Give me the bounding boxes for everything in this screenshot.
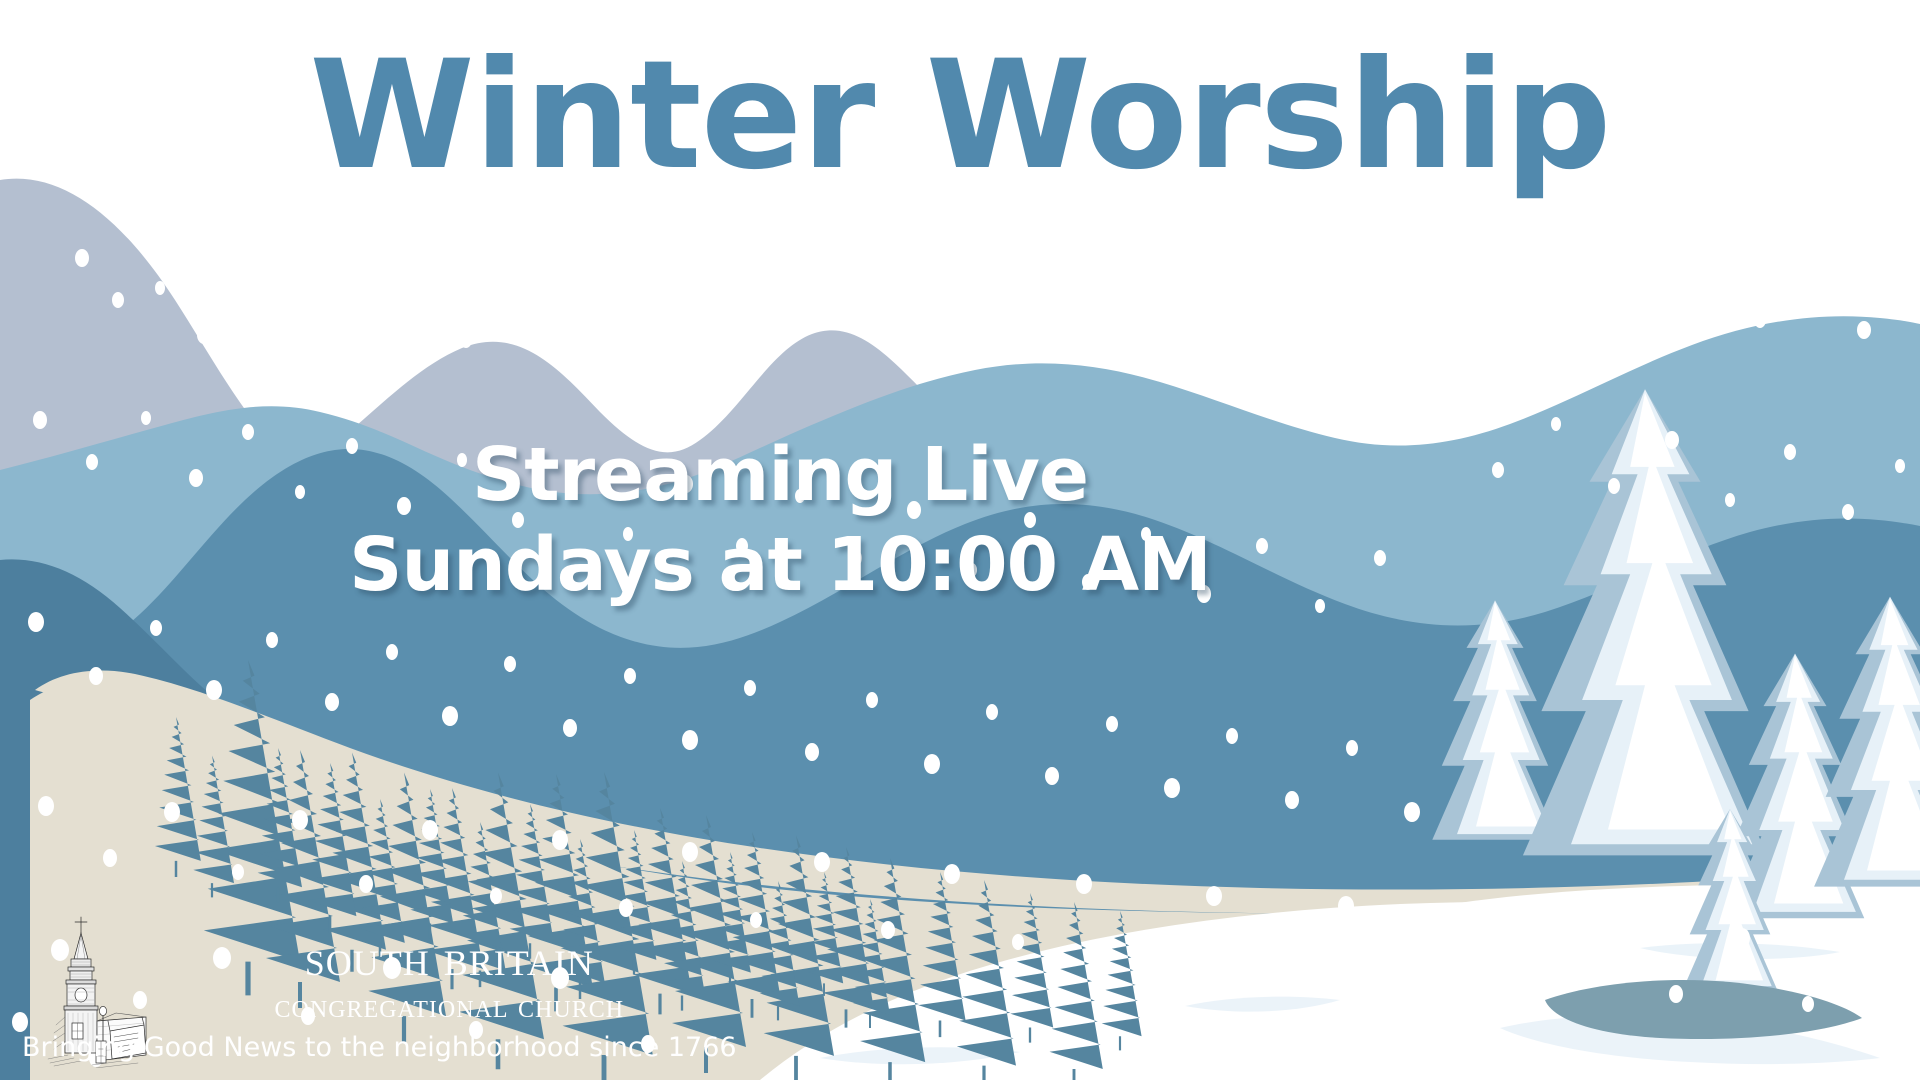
church-name-secondary: Congregational Church [275,987,625,1026]
church-name-primary: South Britain [305,933,594,985]
church-wordmark: South Britain Congregational Church Brin… [162,933,737,1068]
service-info: Streaming Live Sundays at 10:00 AM [330,430,1230,611]
service-line-streaming: Streaming Live [330,430,1230,520]
winter-worship-banner: Winter Worship Streaming Live Sundays at… [0,0,1920,1080]
page-title: Winter Worship [0,38,1920,196]
service-line-time: Sundays at 10:00 AM [330,520,1230,610]
church-logo: South Britain Congregational Church Brin… [34,913,737,1068]
church-tagline: Bringing Good News to the neighborhood s… [22,1032,737,1064]
